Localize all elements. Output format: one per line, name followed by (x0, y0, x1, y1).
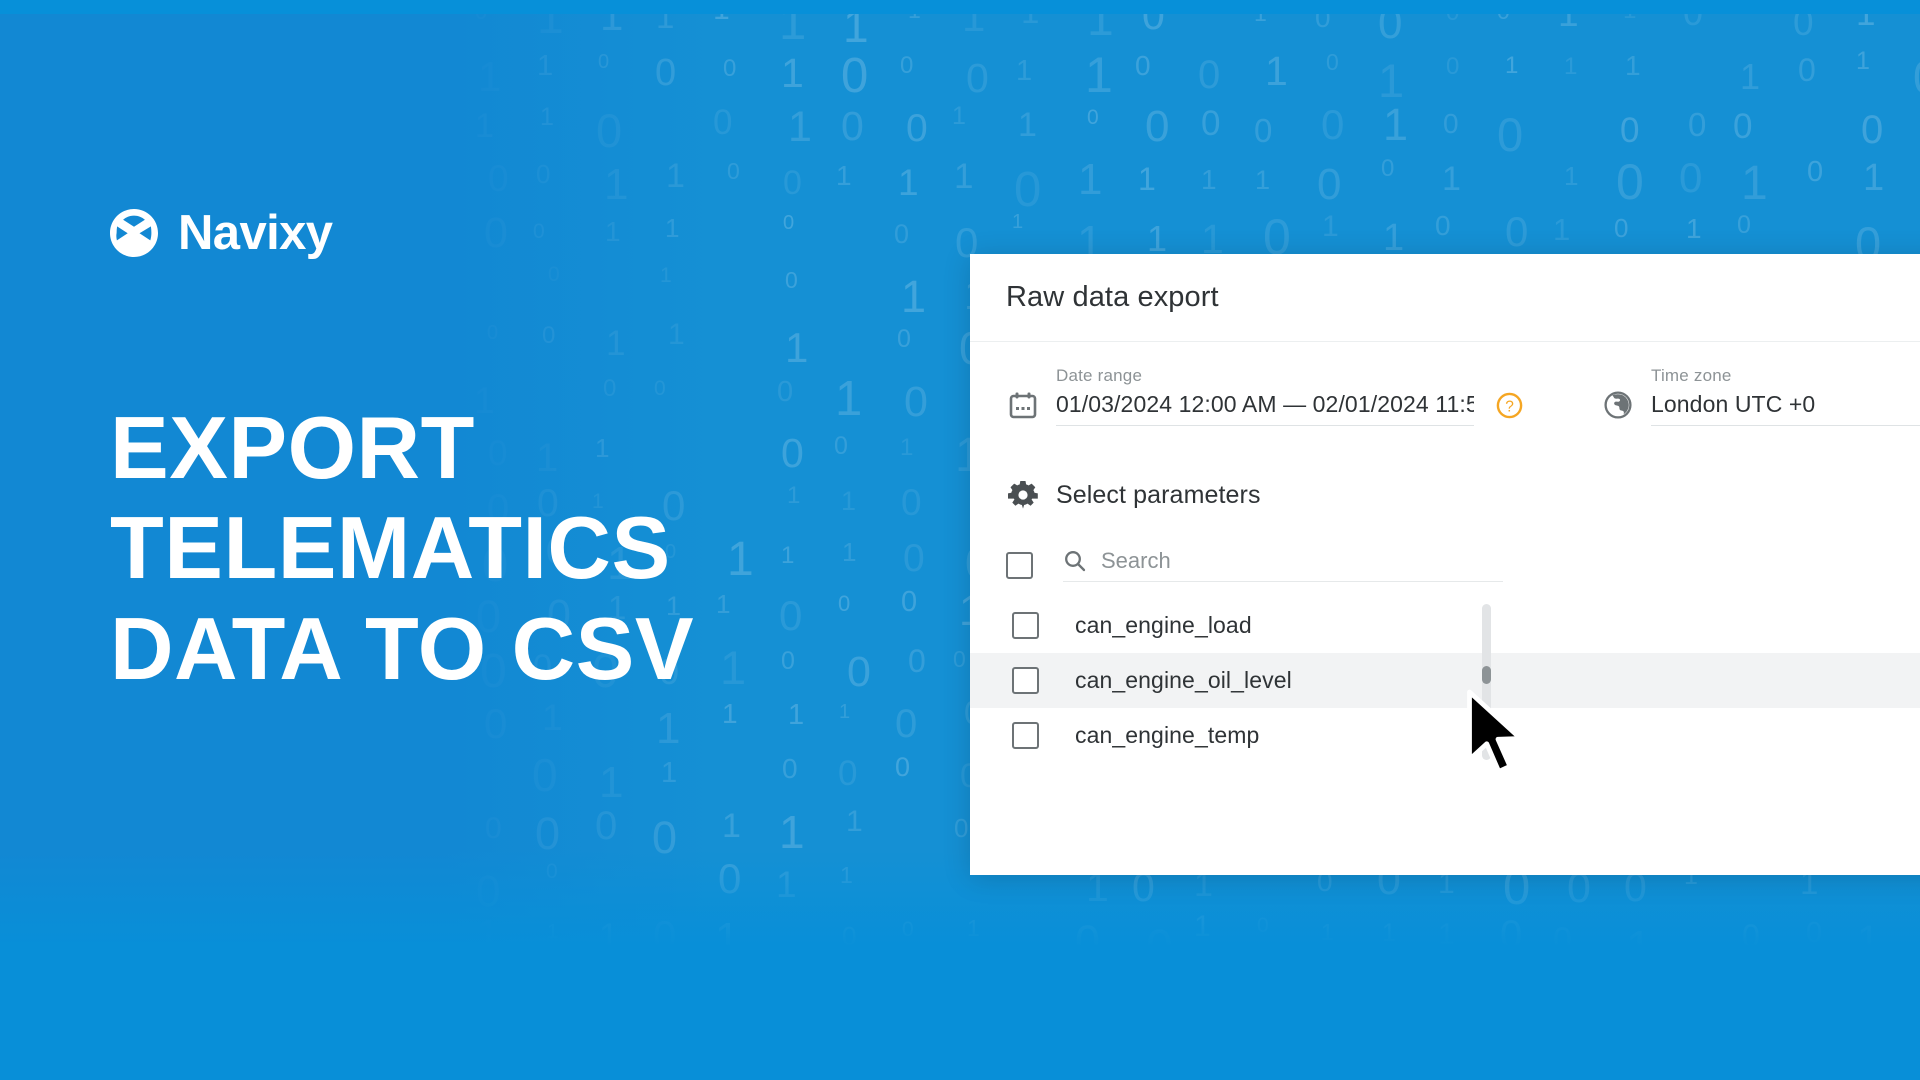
dialog-title: Raw data export (1006, 281, 1219, 314)
brand-name: Navixy (178, 205, 332, 261)
parameter-list-container: can_engine_load can_engine_oil_level can… (970, 598, 1920, 763)
gear-icon (1006, 478, 1040, 512)
parameter-list-scrollbar[interactable] (1482, 604, 1491, 760)
dialog-header: Raw data export (970, 254, 1920, 342)
background-top-strip (0, 0, 1920, 14)
svg-text:?: ? (1505, 398, 1514, 415)
search-row (970, 548, 1920, 582)
calendar-icon (1006, 388, 1040, 422)
date-range-label: Date range (1056, 366, 1474, 386)
search-input[interactable] (1101, 548, 1503, 574)
question-mark-circle-icon[interactable]: ? (1496, 392, 1523, 419)
select-all-checkbox[interactable] (1006, 552, 1033, 579)
page-title: Export Telematics Data to CSV (110, 398, 930, 699)
date-range-field[interactable]: Date range 01/03/2024 12:00 AM — 02/01/2… (1006, 366, 1474, 426)
time-zone-value: London UTC +0 (1651, 391, 1920, 418)
parameter-row-can-engine-temp[interactable]: can_engine_temp (970, 708, 1920, 763)
parameter-checkbox[interactable] (1012, 612, 1039, 639)
brand-logo: Navixy (108, 205, 332, 261)
time-zone-label: Time zone (1651, 366, 1920, 386)
select-parameters-header: Select parameters (970, 478, 1920, 512)
dialog-fields-row: Date range 01/03/2024 12:00 AM — 02/01/2… (970, 366, 1920, 426)
headline-line-2: Telematics (110, 498, 930, 598)
time-zone-value-wrap[interactable]: London UTC +0 (1651, 391, 1920, 426)
search-field[interactable] (1063, 548, 1503, 582)
time-zone-field[interactable]: Time zone London UTC +0 (1601, 366, 1920, 426)
search-icon (1063, 549, 1087, 573)
parameter-row-can-engine-load[interactable]: can_engine_load (970, 598, 1920, 653)
parameter-label: can_engine_oil_level (1075, 667, 1292, 694)
navixy-shield-icon (108, 207, 160, 259)
headline-line-3: Data to CSV (110, 599, 930, 699)
parameter-checkbox[interactable] (1012, 722, 1039, 749)
parameter-list: can_engine_load can_engine_oil_level can… (970, 598, 1920, 763)
dialog-body: Date range 01/03/2024 12:00 AM — 02/01/2… (970, 342, 1920, 763)
parameter-label: can_engine_load (1075, 612, 1252, 639)
parameter-checkbox[interactable] (1012, 667, 1039, 694)
raw-data-export-dialog: Raw data export Date range (970, 254, 1920, 875)
parameter-label: can_engine_temp (1075, 722, 1259, 749)
parameter-row-can-engine-oil-level[interactable]: can_engine_oil_level (970, 653, 1920, 708)
date-range-value-wrap[interactable]: 01/03/2024 12:00 AM — 02/01/2024 11:59 P (1056, 391, 1474, 426)
scrollbar-thumb[interactable] (1482, 666, 1491, 684)
globe-icon (1601, 388, 1635, 422)
select-parameters-label: Select parameters (1056, 481, 1261, 510)
headline-line-1: Export (110, 398, 930, 498)
date-range-value: 01/03/2024 12:00 AM — 02/01/2024 11:59 P (1056, 391, 1474, 418)
background-bottom-fade (0, 850, 1920, 1080)
